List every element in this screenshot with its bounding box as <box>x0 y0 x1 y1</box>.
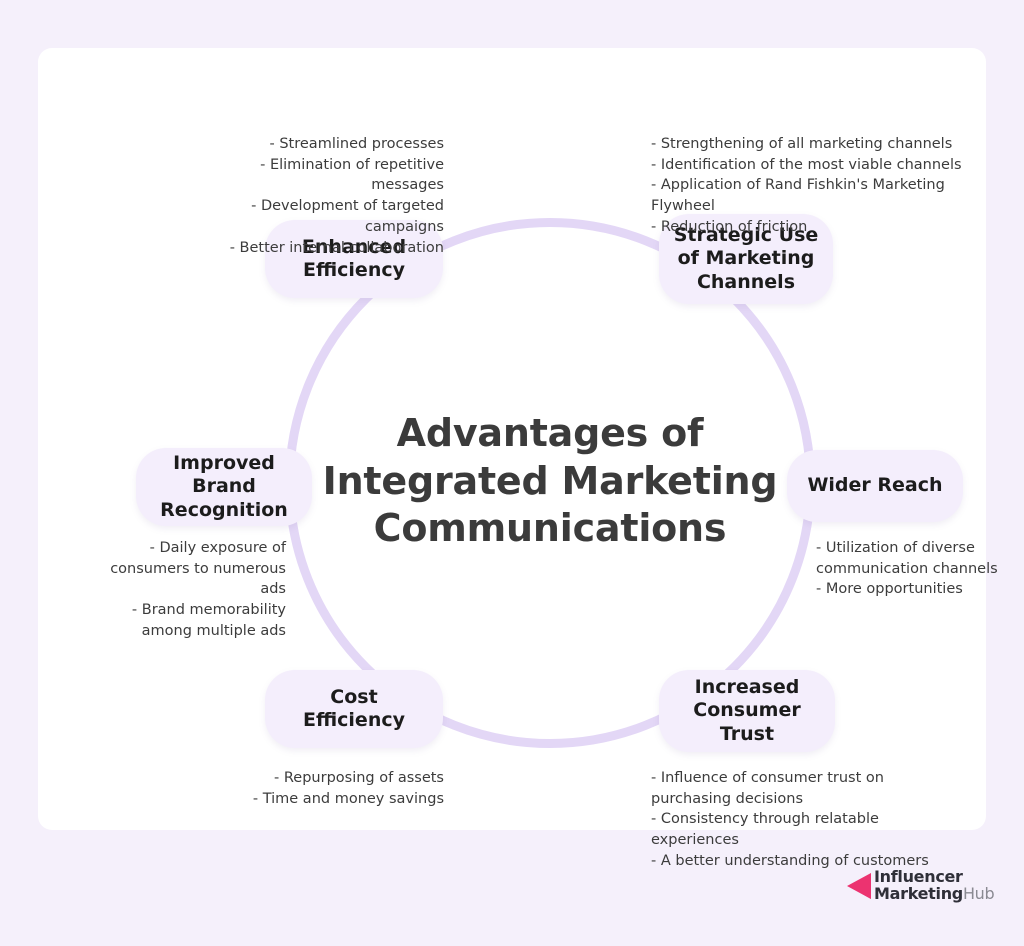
arrow-mark-icon <box>846 869 872 903</box>
infographic-card: Advantages of Integrated Marketing Commu… <box>38 48 986 830</box>
diagram-title-line-2: Integrated Marketing <box>300 458 800 506</box>
node-increased-consumer-trust-label: Increased Consumer Trust <box>673 676 821 746</box>
node-improved-brand-recognition-label: Improved Brand Recognition <box>150 452 298 522</box>
bullets-wider-reach: - Utilization of diverse communication c… <box>816 538 1016 600</box>
brand-logo-hub: Hub <box>963 884 994 903</box>
bullets-cost-efficiency: - Repurposing of assets - Time and money… <box>188 768 444 809</box>
node-improved-brand-recognition[interactable]: Improved Brand Recognition <box>136 448 312 526</box>
node-label-line-1: Wider Reach <box>807 474 942 497</box>
brand-logo-marketing: Marketing <box>874 884 963 903</box>
diagram-title-line-1: Advantages of <box>300 410 800 458</box>
node-label-line-1: Increased <box>673 676 821 699</box>
bullets-increased-consumer-trust: - Influence of consumer trust on purchas… <box>651 768 951 872</box>
brand-logo-text: Influencer MarketingHub <box>874 869 994 903</box>
node-label-line-3: Channels <box>674 271 819 294</box>
bullets-enhanced-efficiency: - Streamlined processes - Elimination of… <box>188 134 444 258</box>
node-label-line-2: Recognition <box>150 499 298 522</box>
brand-logo-line-2: MarketingHub <box>874 886 994 903</box>
node-label-line-2: Consumer Trust <box>673 699 821 745</box>
node-cost-efficiency[interactable]: Cost Efficiency <box>265 670 443 748</box>
diagram-title: Advantages of Integrated Marketing Commu… <box>300 410 800 553</box>
bullets-improved-brand-recognition: - Daily exposure of consumers to numerou… <box>86 538 286 642</box>
node-cost-efficiency-label: Cost Efficiency <box>279 686 429 732</box>
node-wider-reach[interactable]: Wider Reach <box>787 450 963 522</box>
node-wider-reach-label: Wider Reach <box>807 474 942 497</box>
node-label-line-1: Improved Brand <box>150 452 298 498</box>
bullets-strategic-use-of-marketing-channels: - Strengthening of all marketing channel… <box>651 134 991 238</box>
node-label-line-2: Efficiency <box>302 259 406 282</box>
node-label-line-1: Cost Efficiency <box>279 686 429 732</box>
brand-logo: Influencer MarketingHub <box>846 869 994 903</box>
diagram-title-line-3: Communications <box>300 505 800 553</box>
node-increased-consumer-trust[interactable]: Increased Consumer Trust <box>659 670 835 752</box>
node-label-line-2: of Marketing <box>674 247 819 270</box>
